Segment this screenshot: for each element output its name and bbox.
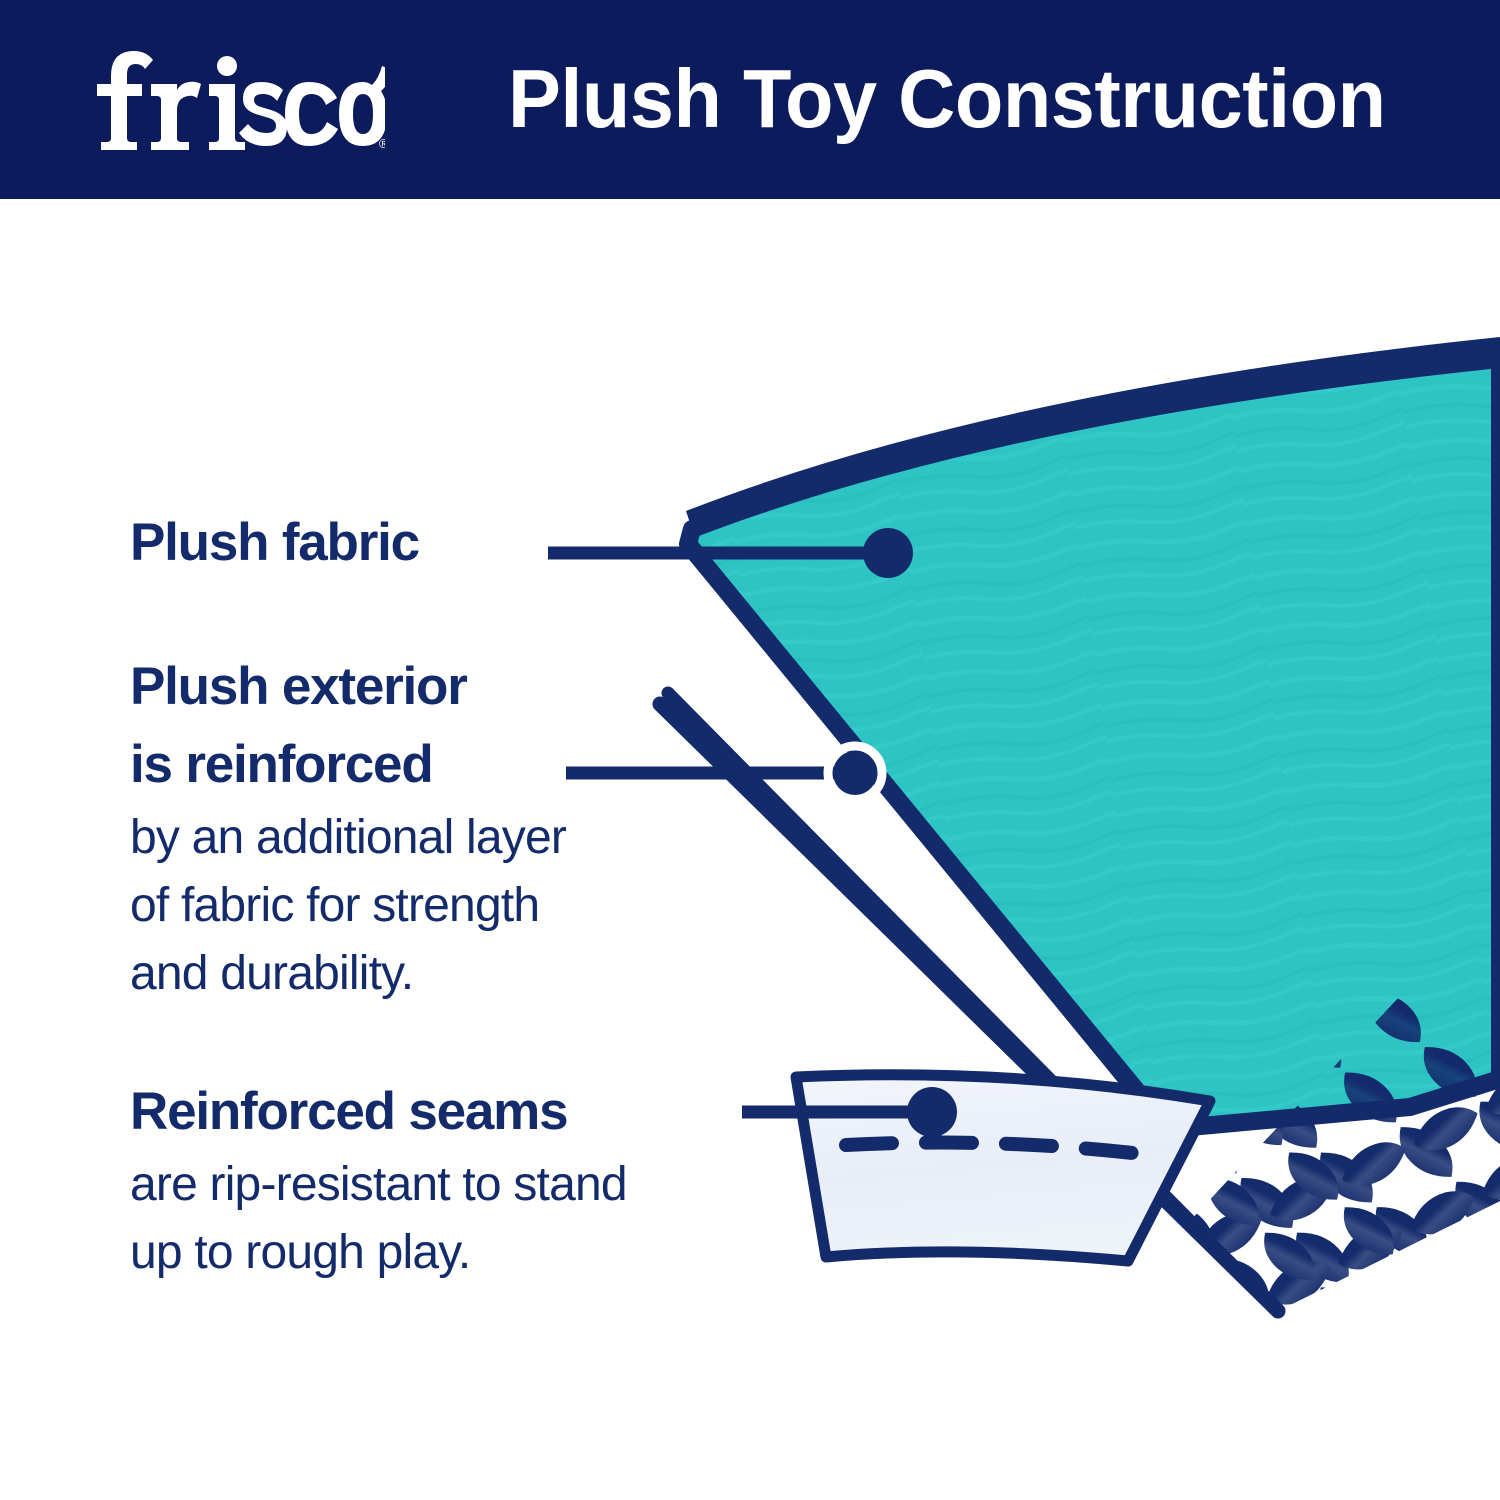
callout-body-line: by an additional layer [130, 804, 566, 872]
callout-heading-line: is reinforced [130, 726, 566, 804]
trademark-symbol: ® [379, 136, 385, 151]
callout-reinforced-seams: Reinforced seams are rip-resistant to st… [130, 1073, 627, 1287]
seam-flap [796, 1075, 1210, 1261]
header-bar: ® Plush Toy Construction [0, 0, 1500, 199]
marker-dot-plush-fabric [863, 528, 913, 578]
callout-body-line: of fabric for strength [130, 872, 566, 940]
callout-body-line: are rip-resistant to stand [130, 1151, 627, 1219]
infographic-page: ® Plush Toy Construction [0, 0, 1500, 1500]
callout-body-line: and durability. [130, 940, 566, 1008]
callout-heading-line: Plush exterior [130, 648, 566, 726]
page-title: Plush Toy Construction [508, 46, 1348, 152]
marker-dot-plush-exterior [833, 751, 877, 795]
marker-dot-reinforced-seams [907, 1087, 957, 1137]
callout-plush-fabric: Plush fabric [130, 504, 419, 582]
callout-heading-line: Plush fabric [130, 504, 419, 582]
callout-body-line: up to rough play. [130, 1219, 627, 1287]
callout-heading-line: Reinforced seams [130, 1073, 627, 1151]
frisco-logo: ® [85, 38, 385, 158]
callout-plush-exterior: Plush exterior is reinforced by an addit… [130, 648, 566, 1008]
plush-fabric-layer [686, 337, 1500, 1129]
